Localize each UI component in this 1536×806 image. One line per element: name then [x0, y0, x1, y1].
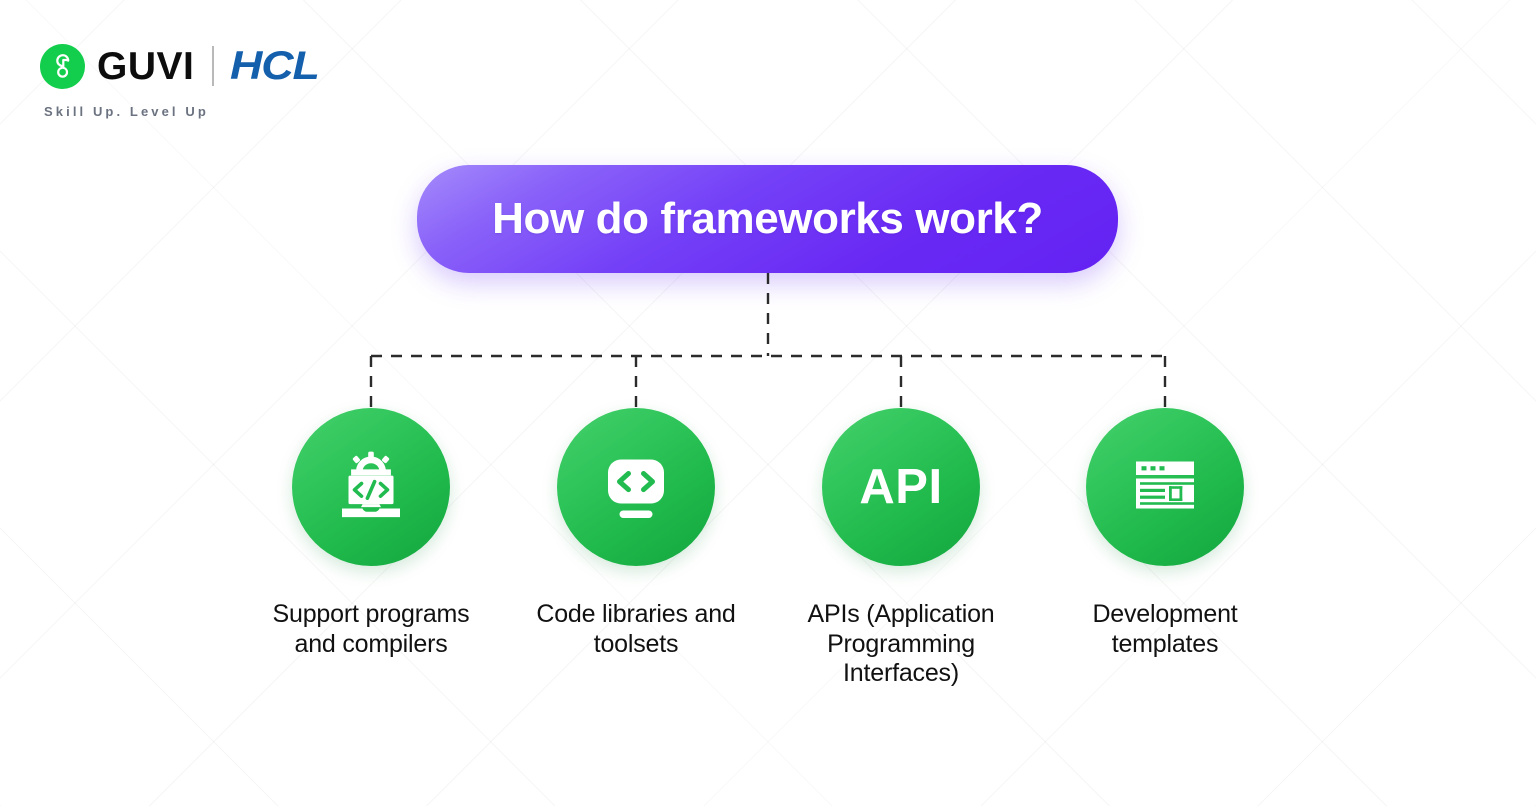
- slide-canvas: GUVI HCL Skill Up. Level Up How do frame…: [0, 0, 1536, 806]
- node-label: APIs (Application Programming Interfaces…: [786, 600, 1016, 689]
- node-label: Code libraries and toolsets: [521, 600, 751, 659]
- guvi-wordmark: GUVI: [97, 47, 194, 86]
- monitor-code-brackets-icon: [593, 442, 679, 533]
- node-icon-circle[interactable]: [557, 408, 715, 566]
- logo-row: GUVI HCL: [40, 40, 310, 92]
- node-code-libraries[interactable]: Code libraries and toolsets: [528, 408, 744, 659]
- node-label: Support programs and compilers: [256, 600, 486, 659]
- brand-tagline: Skill Up. Level Up: [44, 104, 310, 119]
- node-apis[interactable]: API APIs (Application Programming Interf…: [793, 408, 1009, 689]
- node-support-programs[interactable]: Support programs and compilers: [263, 408, 479, 659]
- node-development-templates[interactable]: Development templates: [1057, 408, 1273, 659]
- dashed-connector-lines: [0, 0, 1536, 806]
- laptop-gear-code-icon: [328, 442, 414, 533]
- node-icon-circle[interactable]: [292, 408, 450, 566]
- logo-divider: [212, 46, 214, 86]
- page-title: How do frameworks work?: [492, 194, 1043, 244]
- node-icon-circle[interactable]: [1086, 408, 1244, 566]
- brand-logo-area: GUVI HCL Skill Up. Level Up: [40, 40, 310, 119]
- diagram-title-banner: How do frameworks work?: [417, 165, 1118, 273]
- node-label: Development templates: [1050, 600, 1280, 659]
- guvi-logomark-icon: [40, 44, 85, 89]
- browser-wireframe-template-icon: [1122, 442, 1208, 533]
- hcl-wordmark: HCL: [230, 46, 319, 86]
- api-text-icon: API: [859, 459, 942, 515]
- node-icon-circle[interactable]: API: [822, 408, 980, 566]
- background-watermark-pattern: [0, 0, 1536, 806]
